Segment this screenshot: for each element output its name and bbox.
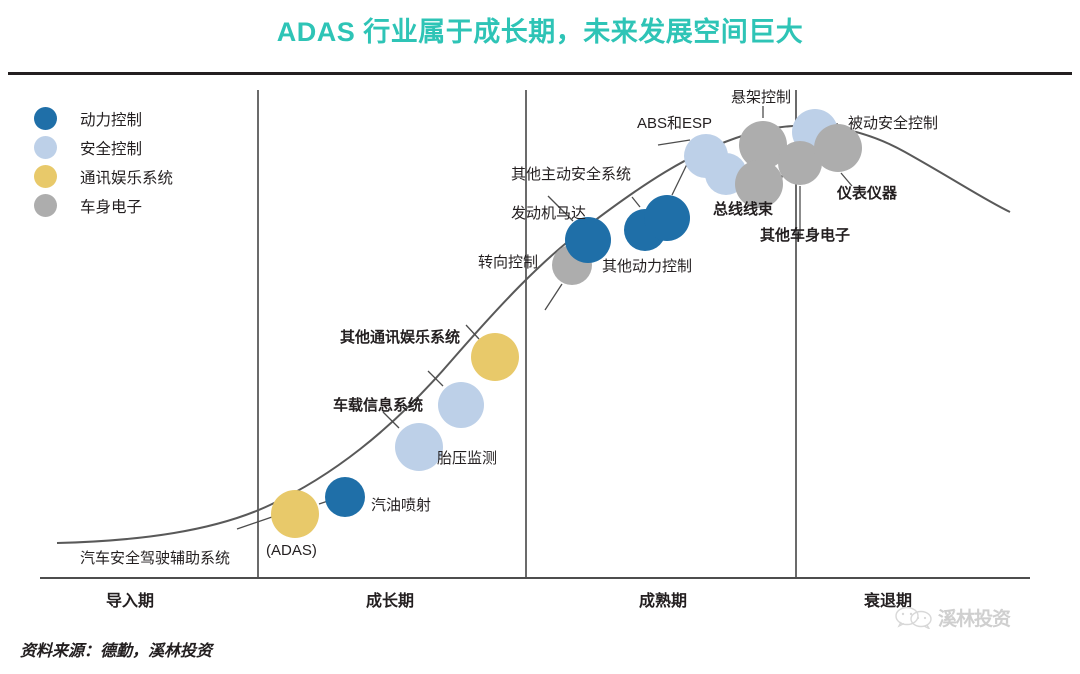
bubble-engine-motor[interactable] [565,217,611,263]
annotation-bus-harness: 总线线束 [713,202,773,217]
bubble-other-infotainment[interactable] [471,333,519,381]
annotation-other-body: 其他车身电子 [760,228,850,243]
stage-label-maturity: 成熟期 [603,587,723,611]
curve-and-leaders [0,0,1080,674]
wechat-watermark: 溪林投资 [895,604,1010,631]
bubble-tpms[interactable] [395,423,443,471]
stage-label-growth: 成长期 [330,587,450,611]
annotation-tpms: 胎压监测 [437,451,497,466]
annotation-steering: 转向控制 [478,255,538,270]
bubble-adas[interactable] [271,490,319,538]
annotation-fuel-injection: 汽油喷射 [371,498,431,513]
annotation-instrument: 仪表仪器 [837,186,897,201]
bubble-other-active-safety[interactable] [644,195,690,241]
wechat-icon [895,607,935,629]
leader-abs-esp [658,140,690,145]
leader-adas [237,517,272,529]
annotation-suspension: 悬架控制 [731,90,791,105]
annotation-other-power: 其他动力控制 [602,259,692,274]
leader-steering [545,284,562,310]
annotation-engine-motor: 发动机马达 [511,206,586,221]
bubble-fuel-injection[interactable] [325,477,365,517]
annotation-other-active-safety: 其他主动安全系统 [511,167,631,182]
annotation-telematics: 车载信息系统 [333,398,423,413]
leader-other-power [632,197,640,207]
annotation-adas-system: 汽车安全驾驶辅助系统 [80,551,230,566]
annotation-passive-safety: 被动安全控制 [848,116,938,131]
watermark-text: 溪林投资 [938,604,1010,631]
source-note: 资料来源：德勤，溪林投资 [20,637,212,661]
annotation-other-infotainment: 其他通讯娱乐系统 [340,330,460,345]
leader-tpms [383,412,399,428]
stage-label-introduction: 导入期 [70,587,190,611]
slide-canvas: ADAS 行业属于成长期，未来发展空间巨大 动力控制 安全控制 通讯娱乐系统 车… [0,0,1080,674]
annotation-adas-abbrev: (ADAS) [266,543,317,558]
bubble-telematics[interactable] [438,382,484,428]
annotation-abs-esp: ABS和ESP [637,116,712,131]
